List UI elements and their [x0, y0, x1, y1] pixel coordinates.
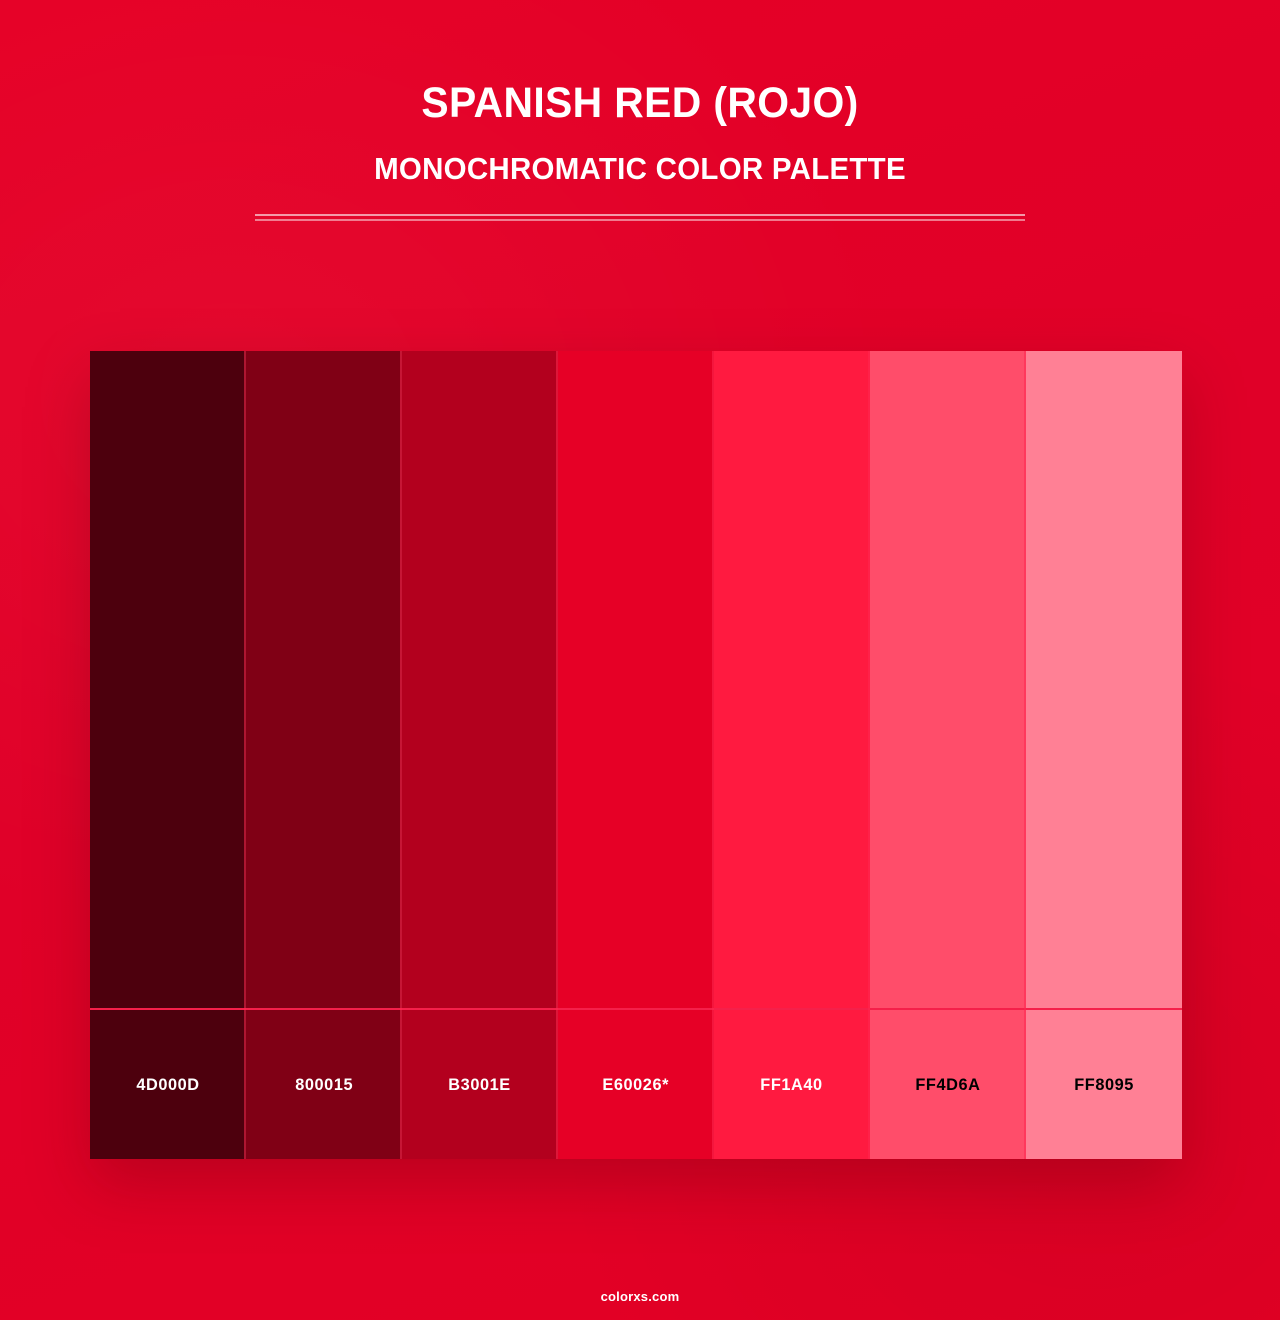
swatch-label-cell-3[interactable]: B3001E: [402, 1010, 558, 1159]
divider-rule-upper: [255, 214, 1025, 216]
swatch-body-6[interactable]: [870, 351, 1026, 1008]
swatch-label-cell-1[interactable]: 4D000D: [90, 1010, 246, 1159]
footer: colorxs.com: [0, 1288, 1280, 1306]
swatch-hex-label-2: 800015: [295, 1075, 353, 1095]
swatch-column-3[interactable]: B3001E: [402, 351, 558, 1159]
color-palette: 4D000D 800015 B3001E E60026*: [90, 351, 1182, 1159]
swatch-label-cell-6[interactable]: FF4D6A: [870, 1010, 1026, 1159]
swatch-label-cell-2[interactable]: 800015: [246, 1010, 402, 1159]
swatch-body-2[interactable]: [246, 351, 402, 1008]
header: SPANISH RED (ROJO) MONOCHROMATIC COLOR P…: [0, 0, 1280, 221]
page-title: SPANISH RED (ROJO): [32, 78, 1248, 128]
title-divider: [255, 214, 1025, 221]
footer-brand-label: colorxs.com: [601, 1289, 680, 1304]
swatch-label-cell-4[interactable]: E60026*: [558, 1010, 714, 1159]
swatch-column-7[interactable]: FF8095: [1026, 351, 1182, 1159]
swatch-column-4[interactable]: E60026*: [558, 351, 714, 1159]
swatch-body-3[interactable]: [402, 351, 558, 1008]
swatch-hex-label-4: E60026*: [603, 1075, 670, 1095]
swatch-hex-label-1: 4D000D: [136, 1075, 199, 1095]
divider-rule-lower: [255, 219, 1025, 221]
swatch-column-5[interactable]: FF1A40: [714, 351, 870, 1159]
swatch-column-1[interactable]: 4D000D: [90, 351, 246, 1159]
swatch-body-1[interactable]: [90, 351, 246, 1008]
palette-page: SPANISH RED (ROJO) MONOCHROMATIC COLOR P…: [0, 0, 1280, 1320]
swatch-label-cell-5[interactable]: FF1A40: [714, 1010, 870, 1159]
swatch-body-5[interactable]: [714, 351, 870, 1008]
swatch-hex-label-5: FF1A40: [761, 1075, 823, 1095]
swatch-hex-label-6: FF4D6A: [915, 1075, 980, 1095]
swatch-hex-label-3: B3001E: [449, 1075, 511, 1095]
page-subtitle: MONOCHROMATIC COLOR PALETTE: [32, 150, 1248, 188]
swatch-body-7[interactable]: [1026, 351, 1182, 1008]
swatch-column-6[interactable]: FF4D6A: [870, 351, 1026, 1159]
swatch-label-cell-7[interactable]: FF8095: [1026, 1010, 1182, 1159]
swatch-column-2[interactable]: 800015: [246, 351, 402, 1159]
swatch-body-4[interactable]: [558, 351, 714, 1008]
swatch-hex-label-7: FF8095: [1074, 1075, 1134, 1095]
